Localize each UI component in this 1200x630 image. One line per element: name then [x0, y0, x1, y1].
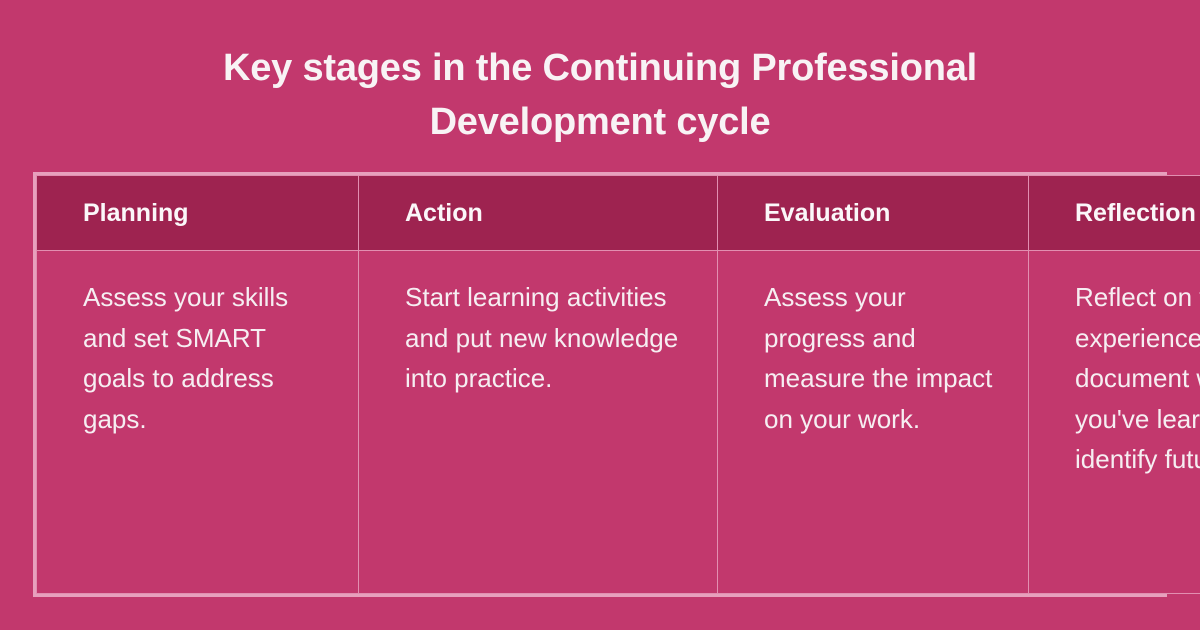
column-header-action: Action [359, 176, 718, 251]
page-title: Key stages in the Continuing Professiona… [0, 0, 1200, 150]
table-header: Planning Action Evaluation Reflection [37, 176, 1200, 251]
slide-canvas: Key stages in the Continuing Professiona… [0, 0, 1200, 630]
cell-evaluation-description: Assess your progress and measure the imp… [718, 251, 1029, 594]
table-body: Assess your skills and set SMART goals t… [37, 251, 1200, 594]
column-header-evaluation: Evaluation [718, 176, 1029, 251]
column-header-reflection: Reflection [1029, 176, 1200, 251]
cell-planning-description: Assess your skills and set SMART goals t… [37, 251, 359, 594]
cell-action-description: Start learning activities and put new kn… [359, 251, 718, 594]
stages-table: Planning Action Evaluation Reflection As… [36, 175, 1200, 594]
table-row: Assess your skills and set SMART goals t… [37, 251, 1200, 594]
table-header-row: Planning Action Evaluation Reflection [37, 176, 1200, 251]
cpd-cycle-table: Planning Action Evaluation Reflection As… [33, 172, 1167, 597]
column-header-planning: Planning [37, 176, 359, 251]
cell-reflection-description: Reflect on your experiences, document wh… [1029, 251, 1200, 594]
